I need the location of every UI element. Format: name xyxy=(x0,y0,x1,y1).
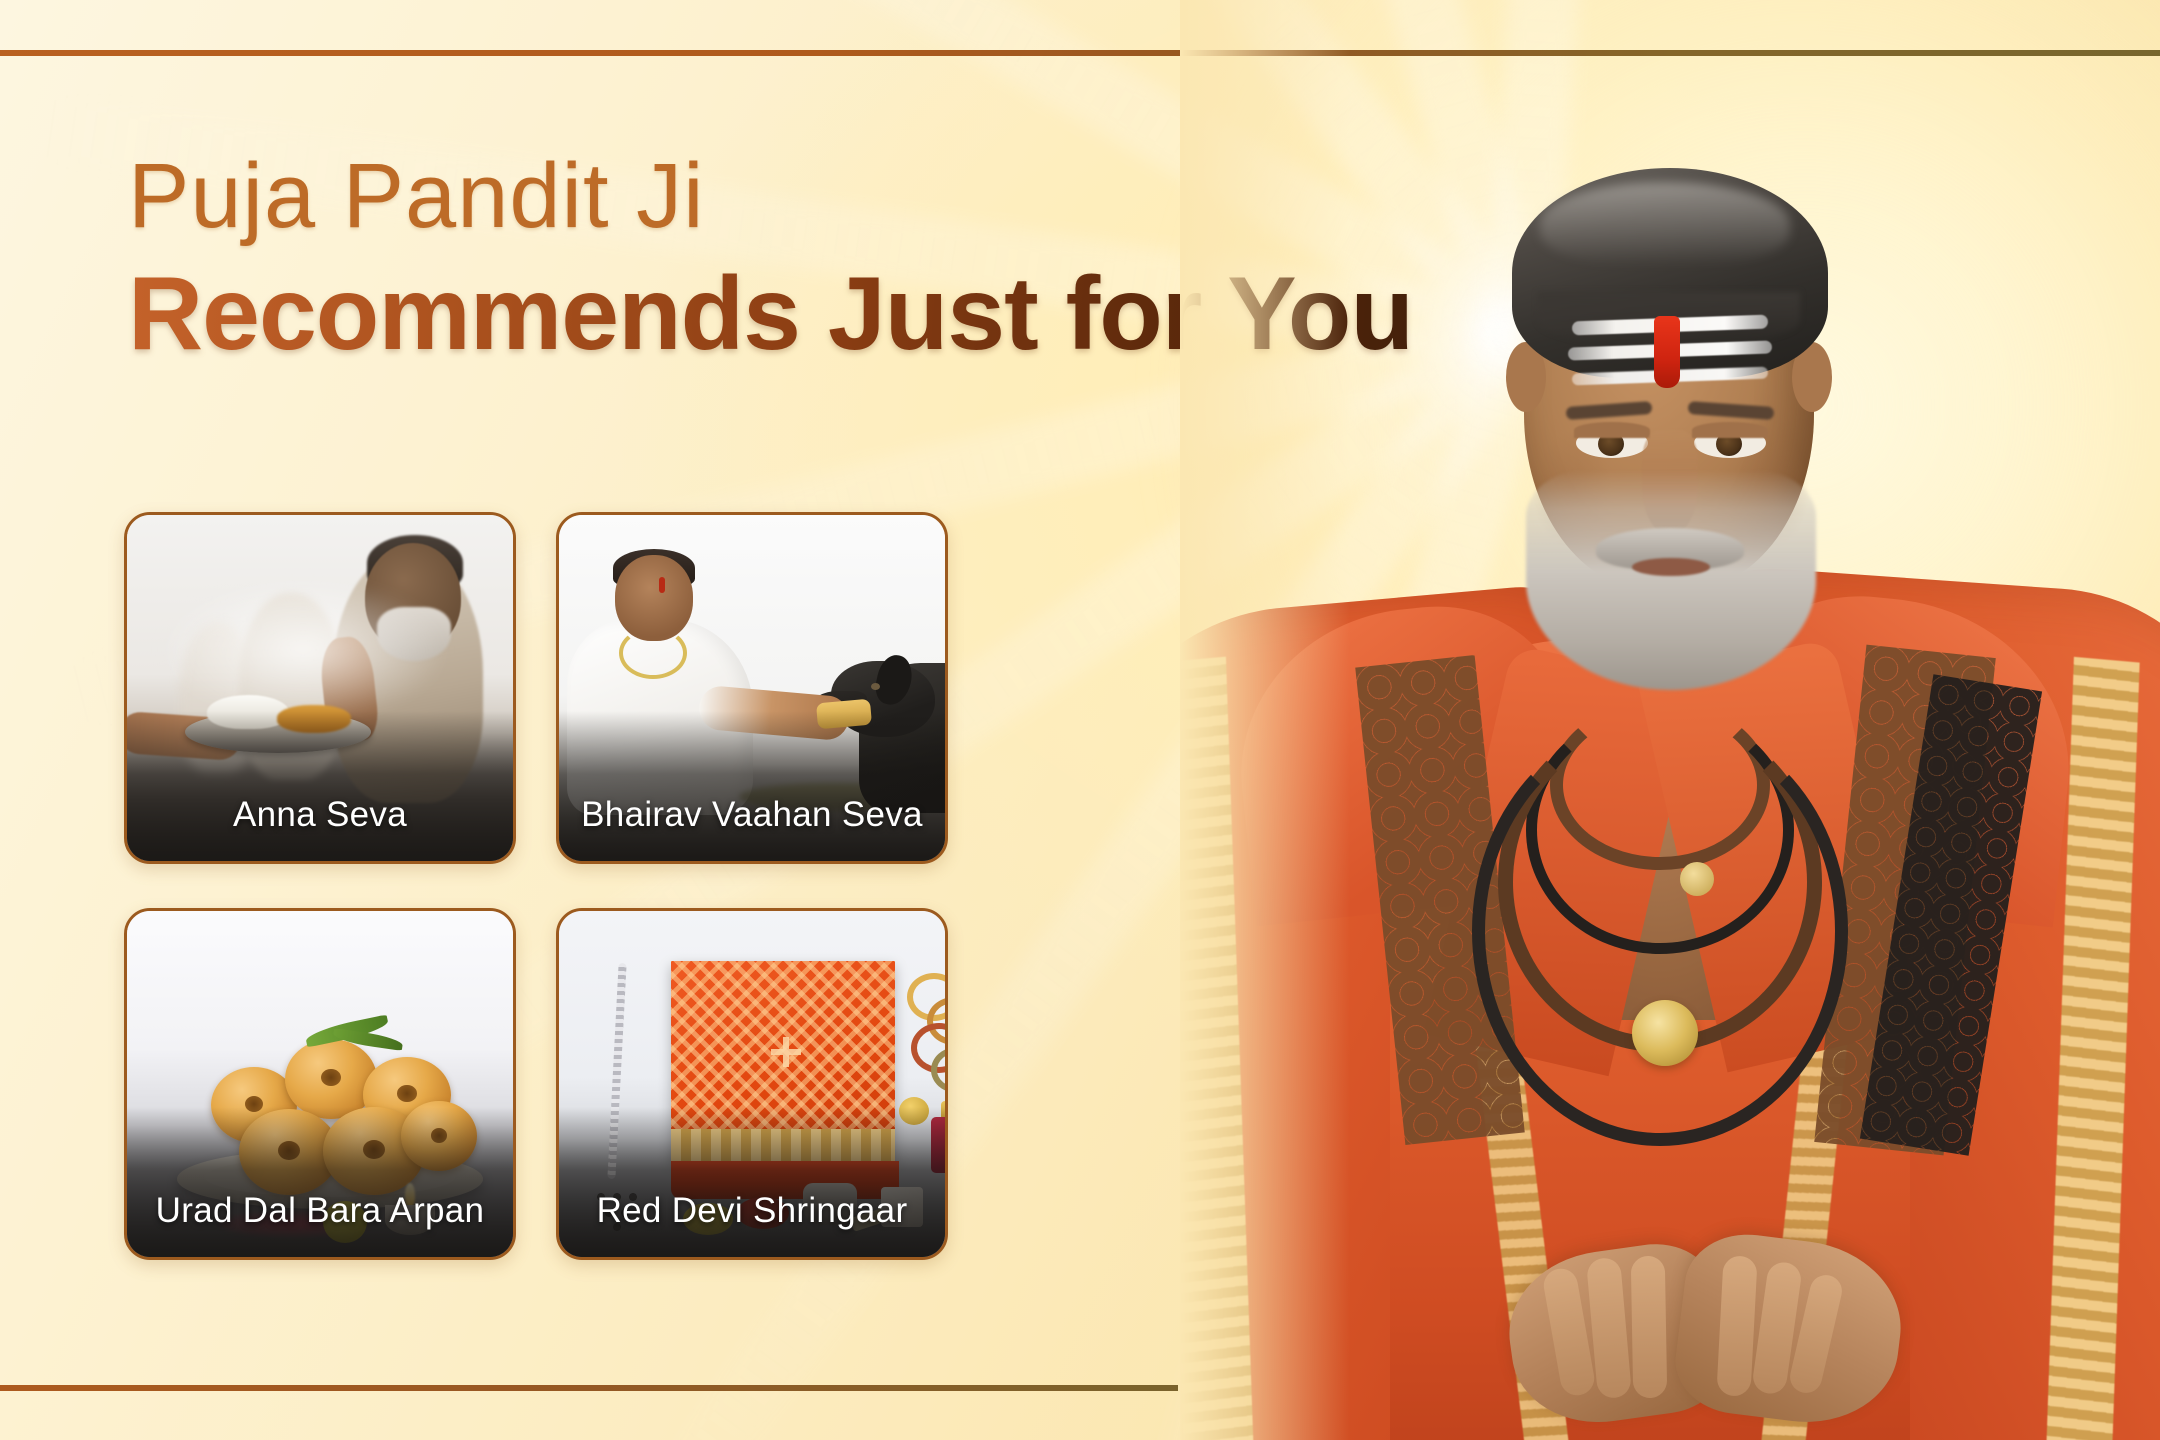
card-label-urad-dal-bara-arpan: Urad Dal Bara Arpan xyxy=(127,1191,513,1231)
card-scrim xyxy=(127,1107,513,1257)
pandit-portrait xyxy=(1180,0,2160,1440)
gold-pendant xyxy=(1632,1000,1698,1066)
card-scrim xyxy=(127,711,513,861)
bottom-divider-rule xyxy=(0,1385,1178,1391)
card-scrim xyxy=(559,1107,945,1257)
card-label-bhairav-vaahan-seva: Bhairav Vaahan Seva xyxy=(559,795,945,835)
promo-banner: Puja Pandit Ji Recommends Just for You xyxy=(0,0,2160,1440)
red-tilak-mark xyxy=(1654,316,1680,388)
card-urad-dal-bara-arpan[interactable]: Urad Dal Bara Arpan xyxy=(124,908,516,1260)
card-red-devi-shringaar[interactable]: Red Devi Shringaar xyxy=(556,908,948,1260)
card-anna-seva[interactable]: Anna Seva xyxy=(124,512,516,864)
card-label-anna-seva: Anna Seva xyxy=(127,795,513,835)
card-label-red-devi-shringaar: Red Devi Shringaar xyxy=(559,1191,945,1231)
recommendation-card-grid: Anna Seva xyxy=(124,512,948,1260)
card-bhairav-vaahan-seva[interactable]: Bhairav Vaahan Seva xyxy=(556,512,948,864)
card-scrim xyxy=(559,711,945,861)
